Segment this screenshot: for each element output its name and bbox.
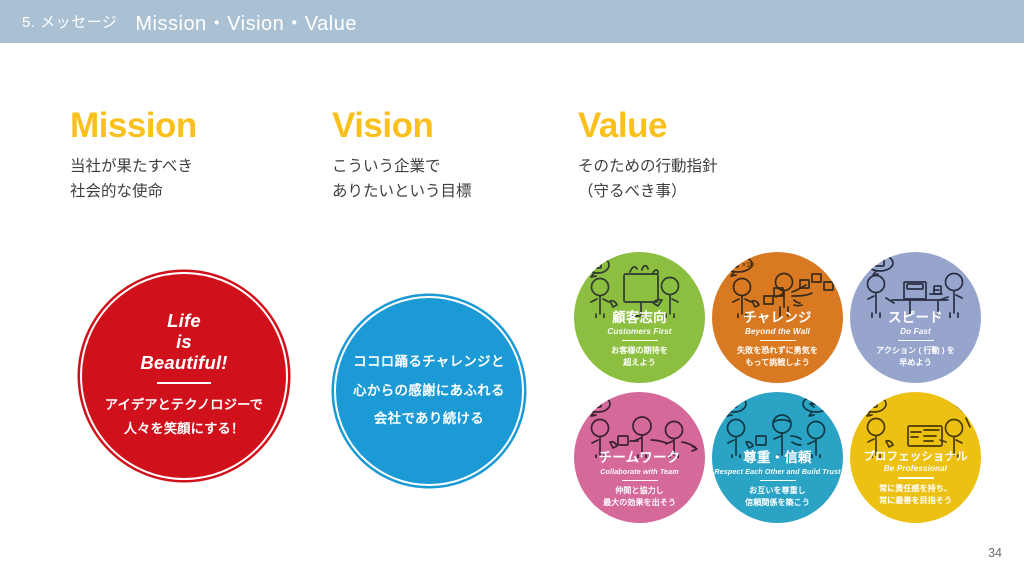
mission-divider	[157, 382, 211, 384]
vision-japanese-text: ココロ踊るチャレンジと 心からの感謝にあふれる 会社であり続ける	[353, 348, 505, 433]
value-japanese-line-2: もって挑戦しよう	[737, 357, 818, 370]
collaboration-illustration-icon	[574, 392, 705, 458]
value-japanese: お客様の期待を 超えよう	[611, 345, 668, 370]
slide: 5. メッセージ Mission・Vision・Value Mission 当社…	[0, 0, 1024, 576]
svg-text:×10: ×10	[742, 262, 754, 269]
value-japanese-line-2: 超えよう	[611, 357, 668, 370]
mission-subtitle-line-2: 社会的な使命	[70, 179, 310, 204]
value-title: プロフェッショナル	[863, 450, 967, 463]
vision-line-3: 会社であり続ける	[353, 405, 505, 433]
value-japanese: 失敗を恐れずに勇気を もって挑戦しよう	[737, 345, 818, 370]
value-circle-body: スピード Do Fast アクション ( 行動 ) を 早めよう	[850, 310, 981, 370]
value-circle-body: チームワーク Collaborate with Team 仲間と協力し 最大の効…	[574, 450, 705, 510]
challenge-illustration-icon: ×10	[712, 252, 843, 318]
value-circle-grid: 顧客志向 Customers First お客様の期待を 超えよう ×10	[572, 252, 984, 530]
value-circle-body: 顧客志向 Customers First お客様の期待を 超えよう	[574, 310, 705, 370]
value-japanese-line-2: 信頼関係を築こう	[745, 497, 810, 510]
mission-english-line-1: Life	[140, 310, 227, 331]
mission-english-line-2: is	[140, 331, 227, 352]
page-title: Mission・Vision・Value	[135, 7, 357, 36]
value-title: チームワーク	[599, 450, 681, 465]
column-vision: Vision こういう企業で ありたいという目標	[332, 108, 572, 204]
value-subtitle-line-2: （守るべき事）	[578, 179, 878, 204]
vision-heading: Vision	[332, 108, 572, 145]
value-english: Collaborate with Team	[600, 467, 679, 476]
mission-heading: Mission	[70, 108, 310, 145]
value-japanese-line-2: 常に最善を目指そう	[879, 495, 952, 508]
value-circle-collaborate-with-team: チームワーク Collaborate with Team 仲間と協力し 最大の効…	[574, 392, 705, 523]
mission-subtitle: 当社が果たすべき 社会的な使命	[70, 154, 310, 204]
column-value: Value そのための行動指針 （守るべき事）	[578, 108, 878, 204]
value-divider	[898, 477, 934, 478]
mission-english-line-3: Beautiful!	[140, 352, 227, 373]
value-english: Respect Each Other and Build Trust	[714, 467, 840, 476]
value-japanese-line-1: 常に責任感を持ち、	[879, 483, 952, 496]
value-circle-body: 尊重・信頼 Respect Each Other and Build Trust…	[712, 450, 843, 510]
header-section-label: 5. メッセージ	[22, 11, 117, 32]
value-divider	[760, 480, 796, 481]
value-japanese: お互いを尊重し 信頼関係を築こう	[745, 485, 810, 510]
value-circle-body: チャレンジ Beyond the Wall 失敗を恐れずに勇気を もって挑戦しよ…	[712, 310, 843, 370]
column-mission: Mission 当社が果たすべき 社会的な使命	[70, 108, 310, 204]
value-divider	[622, 480, 658, 481]
professional-illustration-icon	[850, 392, 981, 458]
value-japanese-line-2: 最大の効果を出そう	[603, 497, 676, 510]
value-circle-be-professional: プロフェッショナル Be Professional 常に責任感を持ち、 常に最善…	[850, 392, 981, 523]
value-japanese: 仲間と協力し 最大の効果を出そう	[603, 485, 676, 510]
mission-statement-circle: Life is Beautiful! アイデアとテクノロジーで 人々を笑顔にする…	[80, 272, 288, 480]
respect-illustration-icon	[712, 392, 843, 458]
value-title: チャレンジ	[743, 310, 811, 325]
header-bar: 5. メッセージ Mission・Vision・Value	[0, 0, 1024, 43]
value-title: スピード	[888, 310, 943, 325]
value-japanese-line-2: 早めよう	[876, 357, 955, 370]
value-japanese: 常に責任感を持ち、 常に最善を目指そう	[879, 483, 952, 508]
value-english: Customers First	[607, 327, 671, 336]
value-circle-customers-first: 顧客志向 Customers First お客様の期待を 超えよう	[574, 252, 705, 383]
value-title: 尊重・信頼	[743, 450, 811, 465]
page-number: 34	[988, 546, 1002, 560]
speed-illustration-icon	[850, 252, 981, 318]
value-circle-body: プロフェッショナル Be Professional 常に責任感を持ち、 常に最善…	[850, 450, 981, 508]
value-english: Do Fast	[900, 327, 931, 336]
value-subtitle-line-1: そのための行動指針	[578, 154, 878, 179]
value-title: 顧客志向	[612, 310, 667, 325]
value-japanese-line-1: お客様の期待を	[611, 345, 668, 358]
value-japanese-line-1: お互いを尊重し	[745, 485, 810, 498]
value-circle-do-fast: スピード Do Fast アクション ( 行動 ) を 早めよう	[850, 252, 981, 383]
value-divider	[760, 340, 796, 341]
value-circle-beyond-the-wall: ×10 チャレンジ Beyond the Wall 失敗を恐れずに勇気を	[712, 252, 843, 383]
vision-statement-circle: ココロ踊るチャレンジと 心からの感謝にあふれる 会社であり続ける	[334, 296, 524, 486]
value-divider	[898, 340, 934, 341]
mission-japanese-line-2: 人々を笑顔にする！	[105, 417, 263, 441]
vision-subtitle-line-2: ありたいという目標	[332, 179, 572, 204]
vision-line-1: ココロ踊るチャレンジと	[353, 348, 505, 376]
mission-japanese-line-1: アイデアとテクノロジーで	[105, 393, 263, 417]
value-subtitle: そのための行動指針 （守るべき事）	[578, 154, 878, 204]
value-heading: Value	[578, 108, 878, 145]
vision-subtitle: こういう企業で ありたいという目標	[332, 154, 572, 204]
value-japanese-line-1: アクション ( 行動 ) を	[876, 345, 955, 358]
vision-line-2: 心からの感謝にあふれる	[353, 377, 505, 405]
mission-english-text: Life is Beautiful!	[140, 310, 227, 373]
value-english: Beyond the Wall	[745, 327, 810, 336]
value-english: Be Professional	[884, 464, 947, 473]
value-divider	[622, 340, 658, 341]
vision-subtitle-line-1: こういう企業で	[332, 154, 572, 179]
value-japanese-line-1: 失敗を恐れずに勇気を	[737, 345, 818, 358]
value-circle-respect-and-trust: 尊重・信頼 Respect Each Other and Build Trust…	[712, 392, 843, 523]
teamwork-illustration-icon	[574, 252, 705, 318]
value-japanese-line-1: 仲間と協力し	[603, 485, 676, 498]
mission-subtitle-line-1: 当社が果たすべき	[70, 154, 310, 179]
value-japanese: アクション ( 行動 ) を 早めよう	[876, 345, 955, 370]
mission-japanese-text: アイデアとテクノロジーで 人々を笑顔にする！	[105, 393, 263, 442]
